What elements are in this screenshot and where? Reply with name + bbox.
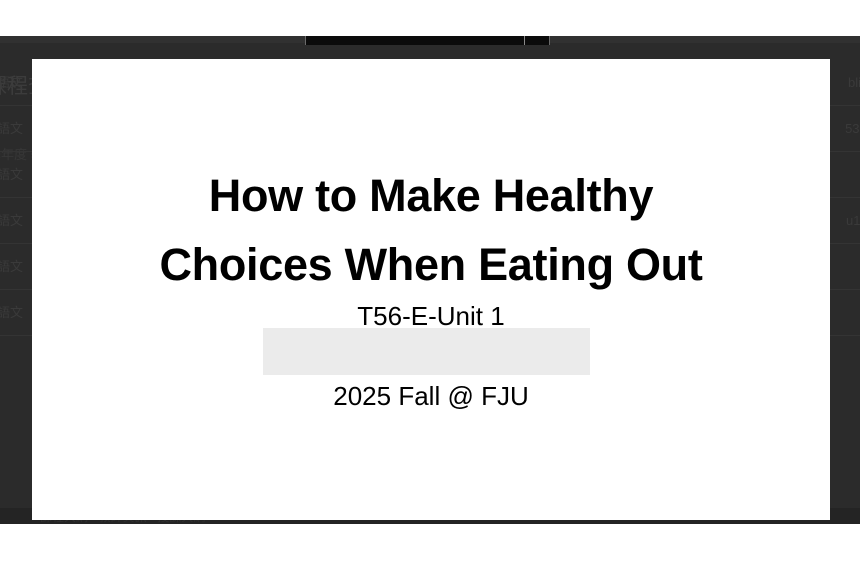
tab-divider	[524, 36, 525, 45]
slide-title-line-1: How to Make Healthy	[32, 161, 830, 230]
browser-tab[interactable]	[305, 36, 550, 45]
table-cell-detail: 5300	[845, 106, 860, 152]
slide-title: How to Make Healthy Choices When Eating …	[32, 161, 830, 299]
table-cell-detail: u116	[846, 198, 860, 244]
redacted-text-block	[263, 328, 590, 375]
table-cell-subject: 國語文	[0, 106, 23, 152]
table-cell-subject: 國語文	[0, 60, 23, 106]
screen-root: 課程查詢 vo 學年度 學期 國語文 bliss 國語文 5300 國語文 國語…	[0, 0, 860, 570]
table-cell-subject: 國語文	[0, 152, 23, 198]
table-cell-subject: 國語文	[0, 198, 23, 244]
table-cell-subject: 國語文	[0, 244, 23, 290]
presentation-slide[interactable]: How to Make Healthy Choices When Eating …	[32, 59, 830, 520]
table-cell-subject: 國語文	[0, 290, 23, 336]
table-cell-detail: bliss	[848, 60, 860, 106]
slide-title-line-2: Choices When Eating Out	[32, 230, 830, 299]
slide-footer-text: 2025 Fall @ FJU	[32, 380, 830, 412]
